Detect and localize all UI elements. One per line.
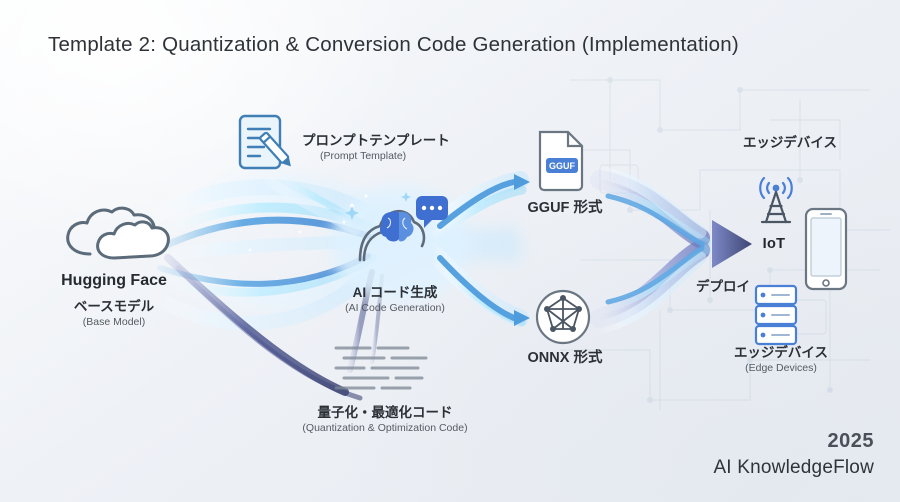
antenna-tower-icon <box>748 168 804 228</box>
gguf-badge-text: GGUF <box>549 161 576 171</box>
gguf-label-jp: GGUF 形式 <box>510 200 620 217</box>
node-iot[interactable] <box>800 206 852 292</box>
iot-label: IoT <box>744 236 804 252</box>
code-label: 量子化・最適化コード (Quantization & Optimization … <box>275 404 495 435</box>
node-edge-bottom[interactable] <box>748 282 804 348</box>
gguf-label: GGUF 形式 <box>510 200 620 217</box>
edge-top-label: エッジデバイス <box>700 134 880 151</box>
edge-top-label-jp: エッジデバイス <box>700 134 880 151</box>
node-onnx[interactable] <box>532 286 594 348</box>
node-prompt[interactable] <box>234 112 306 178</box>
code-lines-icon <box>330 342 440 398</box>
code-label-jp: 量子化・最適化コード <box>275 404 495 421</box>
onnx-label: ONNX 形式 <box>508 350 622 367</box>
code-label-en: (Quantization & Optimization Code) <box>275 421 495 435</box>
edge-bottom-label-jp: エッジデバイス <box>706 344 856 361</box>
node-generator[interactable] <box>340 190 450 264</box>
diagram-canvas: Template 2: Quantization & Conversion Co… <box>0 0 900 502</box>
prompt-label-en: (Prompt Template) <box>302 149 462 163</box>
document-pencil-icon <box>234 112 306 178</box>
ai-brain-chat-icon <box>340 190 450 264</box>
smartphone-icon <box>800 206 852 292</box>
node-code[interactable] <box>330 342 440 398</box>
generator-label-en: (AI Code Generation) <box>325 301 465 315</box>
cloud-icon <box>56 200 176 270</box>
brand-name: AI KnowledgeFlow <box>713 457 874 479</box>
node-edge-top[interactable] <box>748 168 804 228</box>
source-label: ベースモデル (Base Model) <box>34 298 194 329</box>
source-label-en: (Base Model) <box>34 315 194 329</box>
prompt-label-jp: プロンプトテンプレート <box>302 132 462 149</box>
onnx-label-jp: ONNX 形式 <box>508 350 622 367</box>
server-rack-icon <box>748 282 804 348</box>
brand-year: 2025 <box>828 430 875 453</box>
node-gguf[interactable]: GGUF <box>530 128 592 194</box>
generator-label: AI コード生成 (AI Code Generation) <box>325 284 465 315</box>
onnx-graph-icon <box>532 286 594 348</box>
generator-label-jp: AI コード生成 <box>325 284 465 301</box>
page-title: Template 2: Quantization & Conversion Co… <box>48 33 739 57</box>
edge-bottom-label: エッジデバイス (Edge Devices) <box>706 344 856 375</box>
edge-bottom-label-en: (Edge Devices) <box>706 361 856 375</box>
source-brand-label: Hugging Face <box>34 272 194 290</box>
prompt-label: プロンプトテンプレート (Prompt Template) <box>302 132 462 163</box>
gguf-file-icon: GGUF <box>530 128 592 194</box>
source-label-jp: ベースモデル <box>34 298 194 315</box>
node-source[interactable] <box>56 200 176 270</box>
